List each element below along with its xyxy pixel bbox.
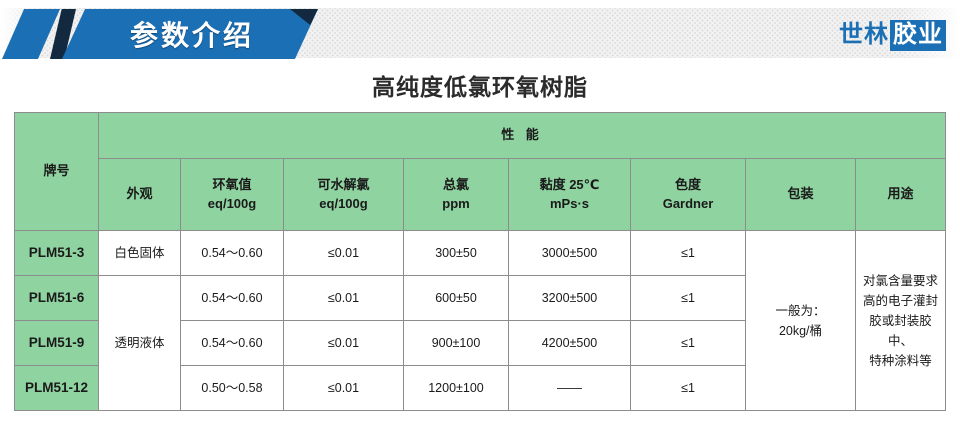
table-header-row-group: 牌号 性 能 — [15, 113, 946, 159]
column-header-viscosity-unit: mPs·s — [511, 195, 628, 214]
ribbon-banner-label: 参数介绍 — [62, 9, 318, 59]
cell-viscosity: 3200±500 — [509, 276, 631, 321]
cell-viscosity: 3000±500 — [509, 231, 631, 276]
column-header-hydrolyzable-chlorine-unit: eq/100g — [286, 195, 401, 214]
cell-color: ≤1 — [631, 366, 746, 411]
brand-logo: 世林胶业 — [837, 20, 946, 51]
cell-usage-line-4: 特种涂料等 — [858, 351, 943, 371]
column-header-appearance: 外观 — [99, 159, 181, 231]
cell-packing-line-2: 20kg/桶 — [748, 321, 853, 341]
cell-appearance-liquid: 透明液体 — [99, 276, 181, 411]
cell-usage-line-1: 对氯含量要求 — [858, 271, 943, 291]
cell-hydrolyzable-chlorine: ≤0.01 — [284, 366, 404, 411]
brand-logo-text-highlight: 胶业 — [890, 20, 946, 51]
cell-total-chlorine: 600±50 — [404, 276, 509, 321]
column-header-grade: 牌号 — [15, 113, 99, 231]
cell-usage-line-2: 高的电子灌封 — [858, 291, 943, 311]
cell-total-chlorine: 900±100 — [404, 321, 509, 366]
cell-packing-line-1: 一般为： — [748, 301, 853, 321]
cell-grade: PLM51-3 — [15, 231, 99, 276]
cell-epoxy-value: 0.54～0.60 — [181, 231, 284, 276]
column-header-epoxy-value-unit: eq/100g — [183, 195, 281, 214]
page-header: 参数介绍 世林胶业 — [0, 0, 960, 72]
cell-appearance-solid: 白色固体 — [99, 231, 181, 276]
column-header-packing-label: 包装 — [748, 185, 853, 204]
column-header-hydrolyzable-chlorine: 可水解氯 eq/100g — [284, 159, 404, 231]
table-header-row-columns: 外观 环氧值 eq/100g 可水解氯 eq/100g 总氯 ppm 黏度 25… — [15, 159, 946, 231]
column-header-appearance-label: 外观 — [101, 185, 178, 204]
cell-viscosity: 4200±500 — [509, 321, 631, 366]
column-header-viscosity: 黏度 25℃ mPs·s — [509, 159, 631, 231]
column-header-total-chlorine-label: 总氯 — [406, 176, 506, 195]
column-header-usage-label: 用途 — [858, 185, 943, 204]
cell-epoxy-value: 0.54～0.60 — [181, 321, 284, 366]
cell-color: ≤1 — [631, 321, 746, 366]
column-group-header-performance: 性 能 — [99, 113, 946, 159]
column-header-total-chlorine: 总氯 ppm — [404, 159, 509, 231]
specification-table: 牌号 性 能 外观 环氧值 eq/100g 可水解氯 eq/100g 总氯 pp… — [14, 112, 946, 411]
cell-total-chlorine: 300±50 — [404, 231, 509, 276]
brand-logo-text-primary: 世林 — [837, 20, 890, 51]
table-row: PLM51-3 白色固体 0.54～0.60 ≤0.01 300±50 3000… — [15, 231, 946, 276]
page-title: 高纯度低氯环氧树脂 — [0, 68, 960, 102]
column-header-color: 色度 Gardner — [631, 159, 746, 231]
cell-total-chlorine: 1200±100 — [404, 366, 509, 411]
cell-usage-line-3: 胶或封装胶中、 — [858, 311, 943, 351]
cell-color: ≤1 — [631, 231, 746, 276]
cell-color: ≤1 — [631, 276, 746, 321]
column-header-epoxy-value: 环氧值 eq/100g — [181, 159, 284, 231]
column-header-usage: 用途 — [856, 159, 946, 231]
cell-hydrolyzable-chlorine: ≤0.01 — [284, 321, 404, 366]
cell-hydrolyzable-chlorine: ≤0.01 — [284, 276, 404, 321]
cell-packing: 一般为： 20kg/桶 — [746, 231, 856, 411]
column-header-viscosity-label: 黏度 25℃ — [511, 176, 628, 195]
column-header-epoxy-value-label: 环氧值 — [183, 176, 281, 195]
column-header-total-chlorine-unit: ppm — [406, 195, 506, 214]
column-header-hydrolyzable-chlorine-label: 可水解氯 — [286, 176, 401, 195]
cell-epoxy-value: 0.50～0.58 — [181, 366, 284, 411]
cell-usage: 对氯含量要求 高的电子灌封 胶或封装胶中、 特种涂料等 — [856, 231, 946, 411]
cell-grade: PLM51-9 — [15, 321, 99, 366]
cell-hydrolyzable-chlorine: ≤0.01 — [284, 231, 404, 276]
cell-epoxy-value: 0.54～0.60 — [181, 276, 284, 321]
column-header-packing: 包装 — [746, 159, 856, 231]
column-header-color-unit: Gardner — [633, 195, 743, 214]
cell-grade: PLM51-6 — [15, 276, 99, 321]
cell-viscosity: —— — [509, 366, 631, 411]
cell-grade: PLM51-12 — [15, 366, 99, 411]
column-header-color-label: 色度 — [633, 176, 743, 195]
